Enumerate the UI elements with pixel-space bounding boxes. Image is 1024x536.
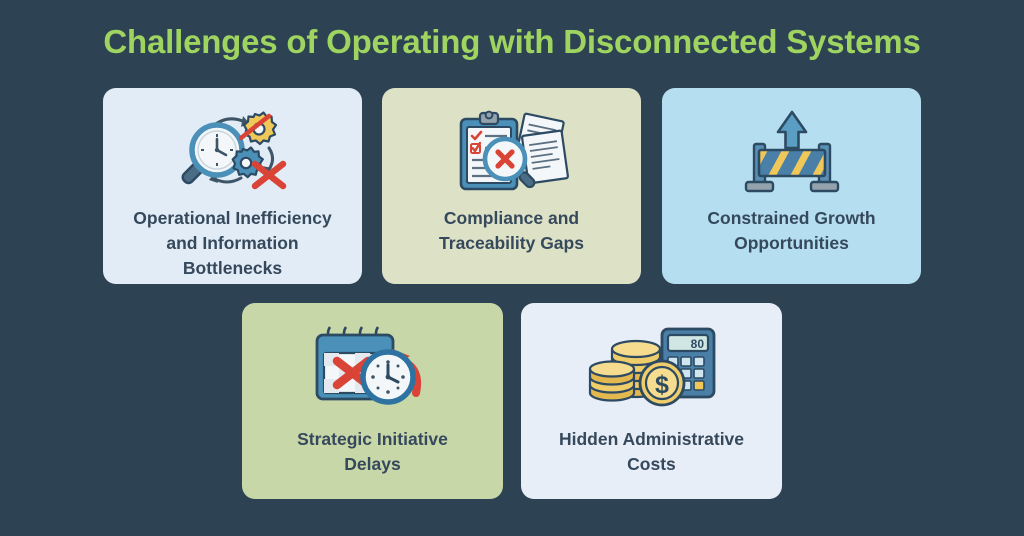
card-hidden-administrative-costs[interactable]: 80 xyxy=(521,303,782,499)
card-label: Hidden Administrative Costs xyxy=(549,427,754,477)
coins-calculator-icon: 80 xyxy=(586,321,718,413)
calculator-display: 80 xyxy=(690,337,704,351)
card-compliance-traceability[interactable]: Compliance and Traceability Gaps xyxy=(382,88,641,284)
card-operational-inefficiency[interactable]: Operational Inefficiency and Information… xyxy=(103,88,362,284)
page-title: Challenges of Operating with Disconnecte… xyxy=(0,20,1024,64)
card-label: Constrained Growth Opportunities xyxy=(697,206,885,256)
dollar-glyph: $ xyxy=(655,371,669,399)
card-strategic-initiative-delays[interactable]: Strategic Initiative Delays xyxy=(242,303,503,499)
card-label: Compliance and Traceability Gaps xyxy=(429,206,594,256)
clipboard-magnifier-documents-icon xyxy=(453,106,571,198)
magnifier-clock-gears-blocked-icon xyxy=(173,106,293,198)
card-label: Operational Inefficiency and Information… xyxy=(123,206,341,281)
card-constrained-growth[interactable]: Constrained Growth Opportunities xyxy=(662,88,921,284)
calendar-x-clock-icon xyxy=(310,321,436,413)
barrier-blocked-arrow-icon xyxy=(740,106,844,198)
card-label: Strategic Initiative Delays xyxy=(287,427,458,477)
